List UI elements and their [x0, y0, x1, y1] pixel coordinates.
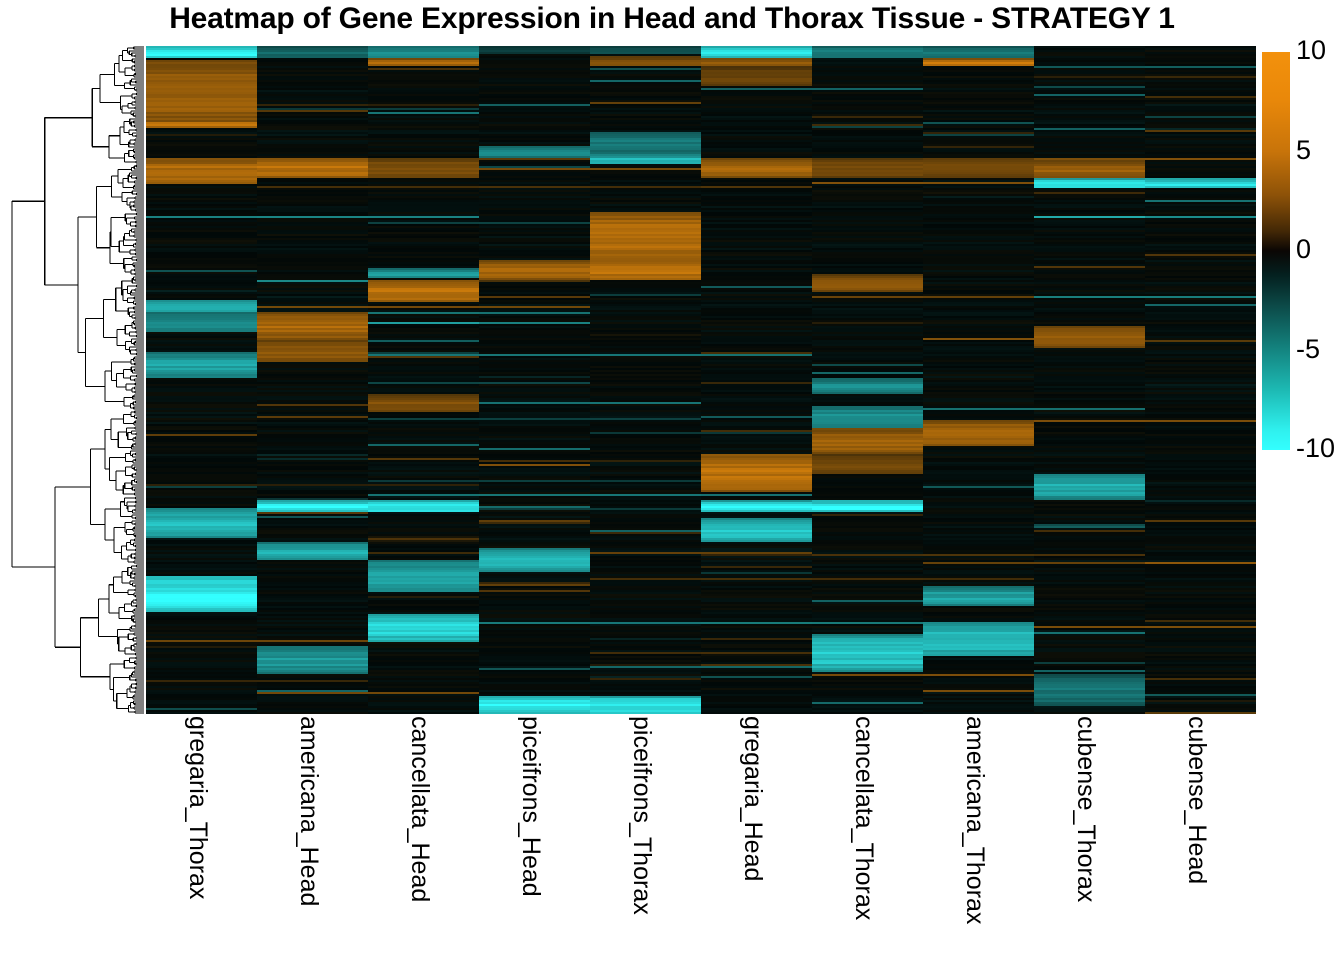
column-label-gregaria-thorax: gregaria_Thorax	[183, 716, 212, 899]
dendrogram-svg	[6, 46, 146, 714]
row-dendrogram	[6, 46, 146, 714]
column-label-piceifrons-head: piceifrons_Head	[516, 716, 545, 897]
colorbar-tick-neg5: -5	[1296, 334, 1320, 365]
heatmap-canvas	[146, 46, 1256, 714]
heatmap-plot-area	[146, 46, 1256, 714]
column-label-americana-head: americana_Head	[294, 716, 323, 906]
column-label-americana-thorax: americana_Thorax	[960, 716, 989, 924]
colorbar-tick-neg10: -10	[1296, 433, 1335, 464]
colorbar-tick-5: 5	[1296, 135, 1311, 166]
column-label-cancellata-thorax: cancellata_Thorax	[849, 716, 878, 920]
heatmap-figure: Heatmap of Gene Expression in Head and T…	[0, 0, 1344, 960]
column-label-cubense-thorax: cubense_Thorax	[1071, 716, 1100, 902]
colorbar-gradient	[1262, 52, 1290, 450]
column-label-gregaria-head: gregaria_Head	[738, 716, 767, 881]
page-title: Heatmap of Gene Expression in Head and T…	[0, 2, 1344, 36]
expression-colorbar	[1262, 52, 1290, 450]
column-label-cubense-head: cubense_Head	[1182, 716, 1211, 884]
colorbar-tick-10: 10	[1296, 35, 1326, 66]
column-labels: gregaria_Thoraxamericana_Headcancellata_…	[146, 716, 1256, 946]
dendrogram-branches	[12, 47, 144, 713]
column-label-piceifrons-thorax: piceifrons_Thorax	[627, 716, 656, 915]
column-label-cancellata-head: cancellata_Head	[405, 716, 434, 902]
colorbar-tick-0: 0	[1296, 234, 1311, 265]
